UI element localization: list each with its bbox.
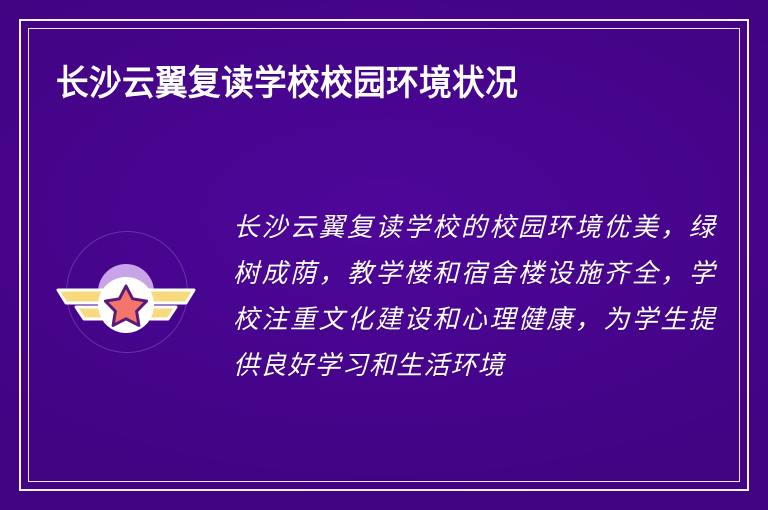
winged-star-badge-icon	[52, 223, 200, 373]
poster-canvas: 长沙云翼复读学校校园环境状况 长沙云翼复读学校的校园环境优	[0, 0, 768, 510]
body-paragraph: 长沙云翼复读学校的校园环境优美，绿树成荫，教学楼和宿舍楼设施齐全，学校注重文化建…	[200, 205, 716, 389]
content-row: 长沙云翼复读学校的校园环境优美，绿树成荫，教学楼和宿舍楼设施齐全，学校注重文化建…	[52, 205, 716, 389]
page-title: 长沙云翼复读学校校园环境状况	[56, 64, 518, 103]
winged-star-badge-svg	[52, 223, 200, 373]
